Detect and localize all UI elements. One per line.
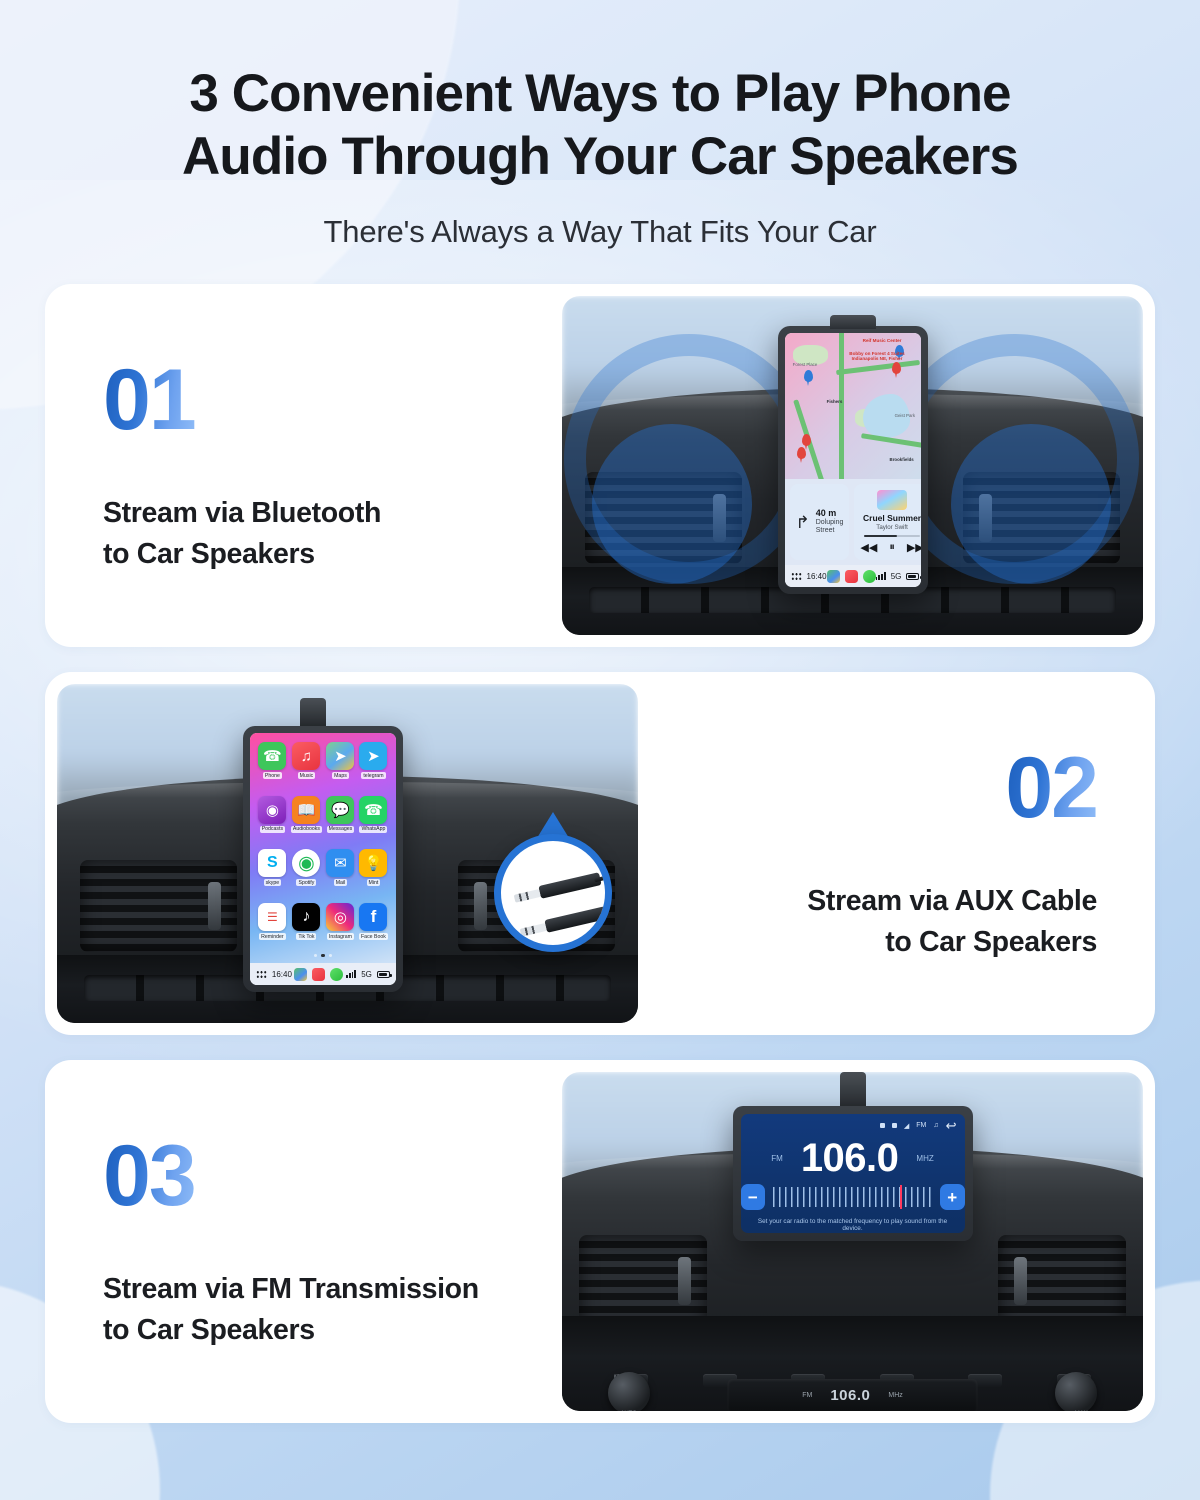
app-whatsapp[interactable]: ☎WhatsApp — [359, 796, 388, 844]
navigation-widget[interactable]: ↱ 40 m Doluping Street — [790, 484, 850, 560]
maps-pin-icon: ➤ — [326, 742, 354, 770]
status-time: 16:40 — [272, 970, 292, 979]
phone-mount-top — [830, 315, 876, 329]
facebook-icon: f — [359, 903, 387, 931]
messages-icon[interactable] — [330, 968, 343, 981]
app-music[interactable]: ♫Music — [291, 742, 322, 790]
album-art — [877, 490, 907, 510]
signal-icon — [346, 970, 356, 978]
music-icon[interactable] — [312, 968, 325, 981]
app-label: Tik Tok — [296, 933, 316, 940]
map-road-vertical — [839, 333, 844, 479]
app-label: Instagram — [327, 933, 354, 940]
messages-bubble-icon: 💬 — [326, 796, 354, 824]
status-time: 16:40 — [807, 572, 827, 581]
now-playing-widget[interactable]: Cruel Summer Taylor Swift ◀◀ ⏸ ▶▶ — [854, 484, 920, 560]
app-mail[interactable]: ✉Mail — [326, 849, 355, 897]
map-label-geist-park: Geist Park — [895, 413, 916, 418]
frequency-decrease-button[interactable]: − — [741, 1184, 766, 1210]
home-screen: ☎Phone ♫Music ➤Maps ➤telegram ◉Podcasts … — [250, 733, 396, 963]
tiktok-icon: ♪ — [292, 903, 320, 931]
air-vent-left-fm — [579, 1235, 707, 1327]
playback-progress[interactable] — [864, 535, 920, 537]
mounted-phone-aux: ☎Phone ♫Music ➤Maps ➤telegram ◉Podcasts … — [243, 726, 403, 992]
battery-icon — [377, 971, 390, 978]
fm-badge-icon: FM — [916, 1122, 926, 1129]
fm-status-bar: ◢ FM ♫ ↩ — [741, 1114, 965, 1134]
previous-track-icon[interactable]: ◀◀ — [860, 541, 877, 554]
card-aux-text: 02 Stream via AUX Cable to Car Speakers — [650, 745, 1155, 962]
maps-icon[interactable] — [827, 570, 840, 583]
app-reminder[interactable]: ☰Reminder — [258, 903, 287, 951]
app-maps[interactable]: ➤Maps — [326, 742, 355, 790]
frequency-needle — [900, 1185, 902, 1209]
vent-knob-right-aux — [474, 882, 487, 930]
book-icon: 📖 — [292, 796, 320, 824]
map-label-brookfields: Brookfields — [890, 457, 914, 462]
card-aux: 02 Stream via AUX Cable to Car Speakers — [45, 672, 1155, 1035]
phone-status-bar-aux: 16:40 5G — [250, 963, 396, 985]
card-bluetooth-text: 01 Stream via Bluetooth to Car Speakers — [45, 357, 550, 574]
car-stereo-display: FM 106.0 MHz — [727, 1379, 978, 1411]
app-grid-icon[interactable] — [256, 970, 267, 979]
fm-unit-label: MHZ — [916, 1154, 933, 1163]
app-label: Reminder — [259, 933, 286, 940]
device-screen-fm: ◢ FM ♫ ↩ FM 106.0 MHZ − — [741, 1114, 965, 1233]
vent-knob-right-fm — [1014, 1257, 1027, 1305]
mounted-device-fm: ◢ FM ♫ ↩ FM 106.0 MHZ − — [733, 1106, 973, 1241]
map-label-forest-place: Forest Place — [793, 362, 818, 367]
card-aux-number: 02 — [1005, 745, 1097, 831]
frequency-increase-button[interactable]: + — [940, 1184, 965, 1210]
aux-cable-callout — [494, 834, 612, 952]
map-pin-waypoint-1[interactable] — [802, 434, 811, 446]
stereo-knob-right[interactable] — [1055, 1372, 1097, 1411]
status-left: 16:40 — [791, 572, 827, 581]
fm-band-label: FM — [771, 1154, 783, 1163]
feature-cards: 01 Stream via Bluetooth to Car Speakers — [45, 284, 1155, 1423]
aux-plug-tip-bottom — [520, 923, 547, 937]
carplay-status-bar: 16:40 5G — [785, 565, 921, 587]
nav-distance: 40 m — [816, 509, 844, 519]
app-label: WhatsApp — [359, 826, 387, 833]
mail-envelope-icon: ✉ — [326, 849, 354, 877]
sound-wave-right-inner — [951, 424, 1111, 584]
card-fm-number: 03 — [103, 1133, 195, 1219]
turn-arrow-icon: ↱ — [796, 514, 810, 531]
app-phone[interactable]: ☎Phone — [258, 742, 287, 790]
status-right: 5G — [876, 572, 920, 581]
telegram-icon: ➤ — [359, 742, 387, 770]
vent-knob-left-fm — [678, 1257, 691, 1305]
car-interior-scene-aux: ☎Phone ♫Music ➤Maps ➤telegram ◉Podcasts … — [57, 684, 638, 1023]
podcasts-icon: ◉ — [258, 796, 286, 824]
network-label: 5G — [891, 572, 902, 581]
playback-controls: ◀◀ ⏸ ▶▶ — [860, 541, 920, 554]
status-right-aux: 5G — [346, 970, 390, 979]
status-dock — [827, 570, 876, 583]
map-label-fishers: Fishers — [827, 399, 843, 404]
spotify-icon: ◉ — [292, 849, 320, 877]
app-label: Audiobooks — [291, 826, 322, 833]
aux-plug-tip-top — [514, 889, 541, 903]
song-artist: Taylor Swift — [876, 524, 908, 531]
app-label: Mail — [334, 879, 348, 886]
status-dot-icon — [892, 1123, 897, 1128]
carplay-widgets: ↱ 40 m Doluping Street Cruel Summer Tayl… — [785, 479, 921, 565]
map-label-music-center: Reif Music Center — [863, 338, 902, 343]
stereo-knob-left[interactable] — [608, 1372, 650, 1411]
aux-plug-top — [538, 872, 601, 899]
page-title: 3 Convenient Ways to Play Phone Audio Th… — [0, 62, 1200, 188]
card-aux-caption: Stream via AUX Cable to Car Speakers — [708, 881, 1097, 962]
reminder-list-icon: ☰ — [258, 903, 286, 931]
fm-frequency-row: FM 106.0 MHZ — [741, 1134, 965, 1180]
sound-wave-left-inner — [592, 424, 752, 584]
app-label: Phone — [263, 772, 282, 779]
battery-icon — [906, 573, 919, 580]
fm-hint-text: Set your car radio to the matched freque… — [741, 1216, 965, 1233]
maps-icon[interactable] — [294, 968, 307, 981]
stereo-band-label: FM — [802, 1392, 812, 1399]
mounted-phone: Forest Place Fishers Reif Music Center B… — [778, 326, 928, 594]
app-skype[interactable]: Sskype — [258, 849, 287, 897]
app-mint[interactable]: 💡Mint — [359, 849, 388, 897]
status-dock-aux — [294, 968, 343, 981]
status-left-aux: 16:40 — [256, 970, 292, 979]
fm-frequency-value: 106.0 — [801, 1138, 899, 1178]
app-facebook[interactable]: fFace Book — [359, 903, 388, 951]
home-screen-pager — [258, 951, 388, 960]
stereo-frequency: 106.0 — [830, 1387, 870, 1404]
app-label: Spotify — [296, 879, 316, 886]
page-subtitle: There's Always a Way That Fits Your Car — [0, 214, 1200, 250]
phone-screen: Forest Place Fishers Reif Music Center B… — [785, 333, 921, 587]
fm-tuner: − + — [741, 1180, 965, 1216]
page-dot[interactable] — [314, 954, 318, 958]
page-dot[interactable] — [329, 954, 333, 958]
card-fm-image: MODE FM 106.0 MHz AUTO MAX — [562, 1072, 1143, 1411]
stereo-unit-label: MHz — [888, 1392, 902, 1399]
app-messages[interactable]: 💬Messages — [326, 796, 355, 844]
signal-icon — [876, 572, 886, 580]
app-podcasts[interactable]: ◉Podcasts — [258, 796, 287, 844]
instagram-icon: ◎ — [326, 903, 354, 931]
app-instagram[interactable]: ◎Instagram — [326, 903, 355, 951]
fm-transmitter-app: ◢ FM ♫ ↩ FM 106.0 MHZ − — [741, 1114, 965, 1233]
map-pin-forest-place[interactable] — [804, 370, 813, 382]
app-label: skype — [264, 879, 282, 886]
app-label: Maps — [332, 772, 349, 779]
app-label: Face Book — [359, 933, 388, 940]
status-dot-icon — [880, 1123, 885, 1128]
card-bluetooth-caption: Stream via Bluetooth to Car Speakers — [103, 493, 492, 574]
wifi-icon: ◢ — [904, 1122, 909, 1130]
app-label: telegram — [361, 772, 385, 779]
air-vent-left-aux — [80, 860, 237, 952]
car-interior-scene: Forest Place Fishers Reif Music Center B… — [562, 296, 1143, 635]
whatsapp-icon: ☎ — [359, 796, 387, 824]
nav-street: Doluping Street — [816, 519, 844, 536]
page-dot-active[interactable] — [321, 954, 325, 958]
phone-screen-aux: ☎Phone ♫Music ➤Maps ➤telegram ◉Podcasts … — [250, 733, 396, 985]
skype-icon: S — [258, 849, 286, 877]
mint-bulb-icon: 💡 — [359, 849, 387, 877]
vent-knob-left-aux — [208, 882, 221, 930]
air-vent-right-fm — [998, 1235, 1126, 1327]
map-road-horizontal-1 — [836, 360, 920, 375]
card-bluetooth: 01 Stream via Bluetooth to Car Speakers — [45, 284, 1155, 647]
app-label: Podcasts — [260, 826, 285, 833]
car-interior-scene-fm: MODE FM 106.0 MHz AUTO MAX — [562, 1072, 1143, 1411]
phone-icon: ☎ — [258, 742, 286, 770]
center-console-fm: MODE FM 106.0 MHz AUTO MAX — [562, 1316, 1143, 1411]
app-label: Music — [298, 772, 316, 779]
music-note-icon: ♫ — [292, 742, 320, 770]
music-icon[interactable] — [845, 570, 858, 583]
app-label: Mint — [367, 879, 381, 886]
map-pin-waypoint-2[interactable] — [797, 447, 806, 459]
card-fm-caption: Stream via FM Transmission to Car Speake… — [103, 1269, 492, 1350]
app-grid-icon[interactable] — [791, 572, 802, 581]
card-fm-text: 03 Stream via FM Transmission to Car Spe… — [45, 1133, 550, 1350]
app-telegram[interactable]: ➤telegram — [359, 742, 388, 790]
card-fm: 03 Stream via FM Transmission to Car Spe… — [45, 1060, 1155, 1423]
frequency-scale[interactable] — [773, 1187, 932, 1207]
messages-icon[interactable] — [863, 570, 876, 583]
card-bluetooth-image: Forest Place Fishers Reif Music Center B… — [562, 296, 1143, 635]
app-spotify[interactable]: ◉Spotify — [291, 849, 322, 897]
network-label: 5G — [361, 970, 372, 979]
app-label: Messages — [327, 826, 355, 833]
app-audiobooks[interactable]: 📖Audiobooks — [291, 796, 322, 844]
card-bluetooth-number: 01 — [103, 357, 195, 443]
map-pin-hotel[interactable] — [892, 362, 901, 374]
aux-plug-bottom — [544, 906, 607, 933]
card-aux-image: ☎Phone ♫Music ➤Maps ➤telegram ◉Podcasts … — [57, 684, 638, 1023]
next-track-icon[interactable]: ▶▶ — [907, 541, 921, 554]
map-label-hotel: Bobby on Forest 4 Suites Indianapolis NE… — [847, 351, 907, 361]
back-icon[interactable]: ↩ — [946, 1119, 957, 1132]
page-header: 3 Convenient Ways to Play Phone Audio Th… — [0, 0, 1200, 250]
map-view[interactable]: Forest Place Fishers Reif Music Center B… — [785, 333, 921, 479]
pause-icon[interactable]: ⏸ — [889, 541, 895, 554]
song-title: Cruel Summer — [863, 513, 921, 523]
app-grid: ☎Phone ♫Music ➤Maps ➤telegram ◉Podcasts … — [258, 742, 388, 951]
app-tiktok[interactable]: ♪Tik Tok — [291, 903, 322, 951]
volume-icon: ♫ — [933, 1122, 938, 1129]
